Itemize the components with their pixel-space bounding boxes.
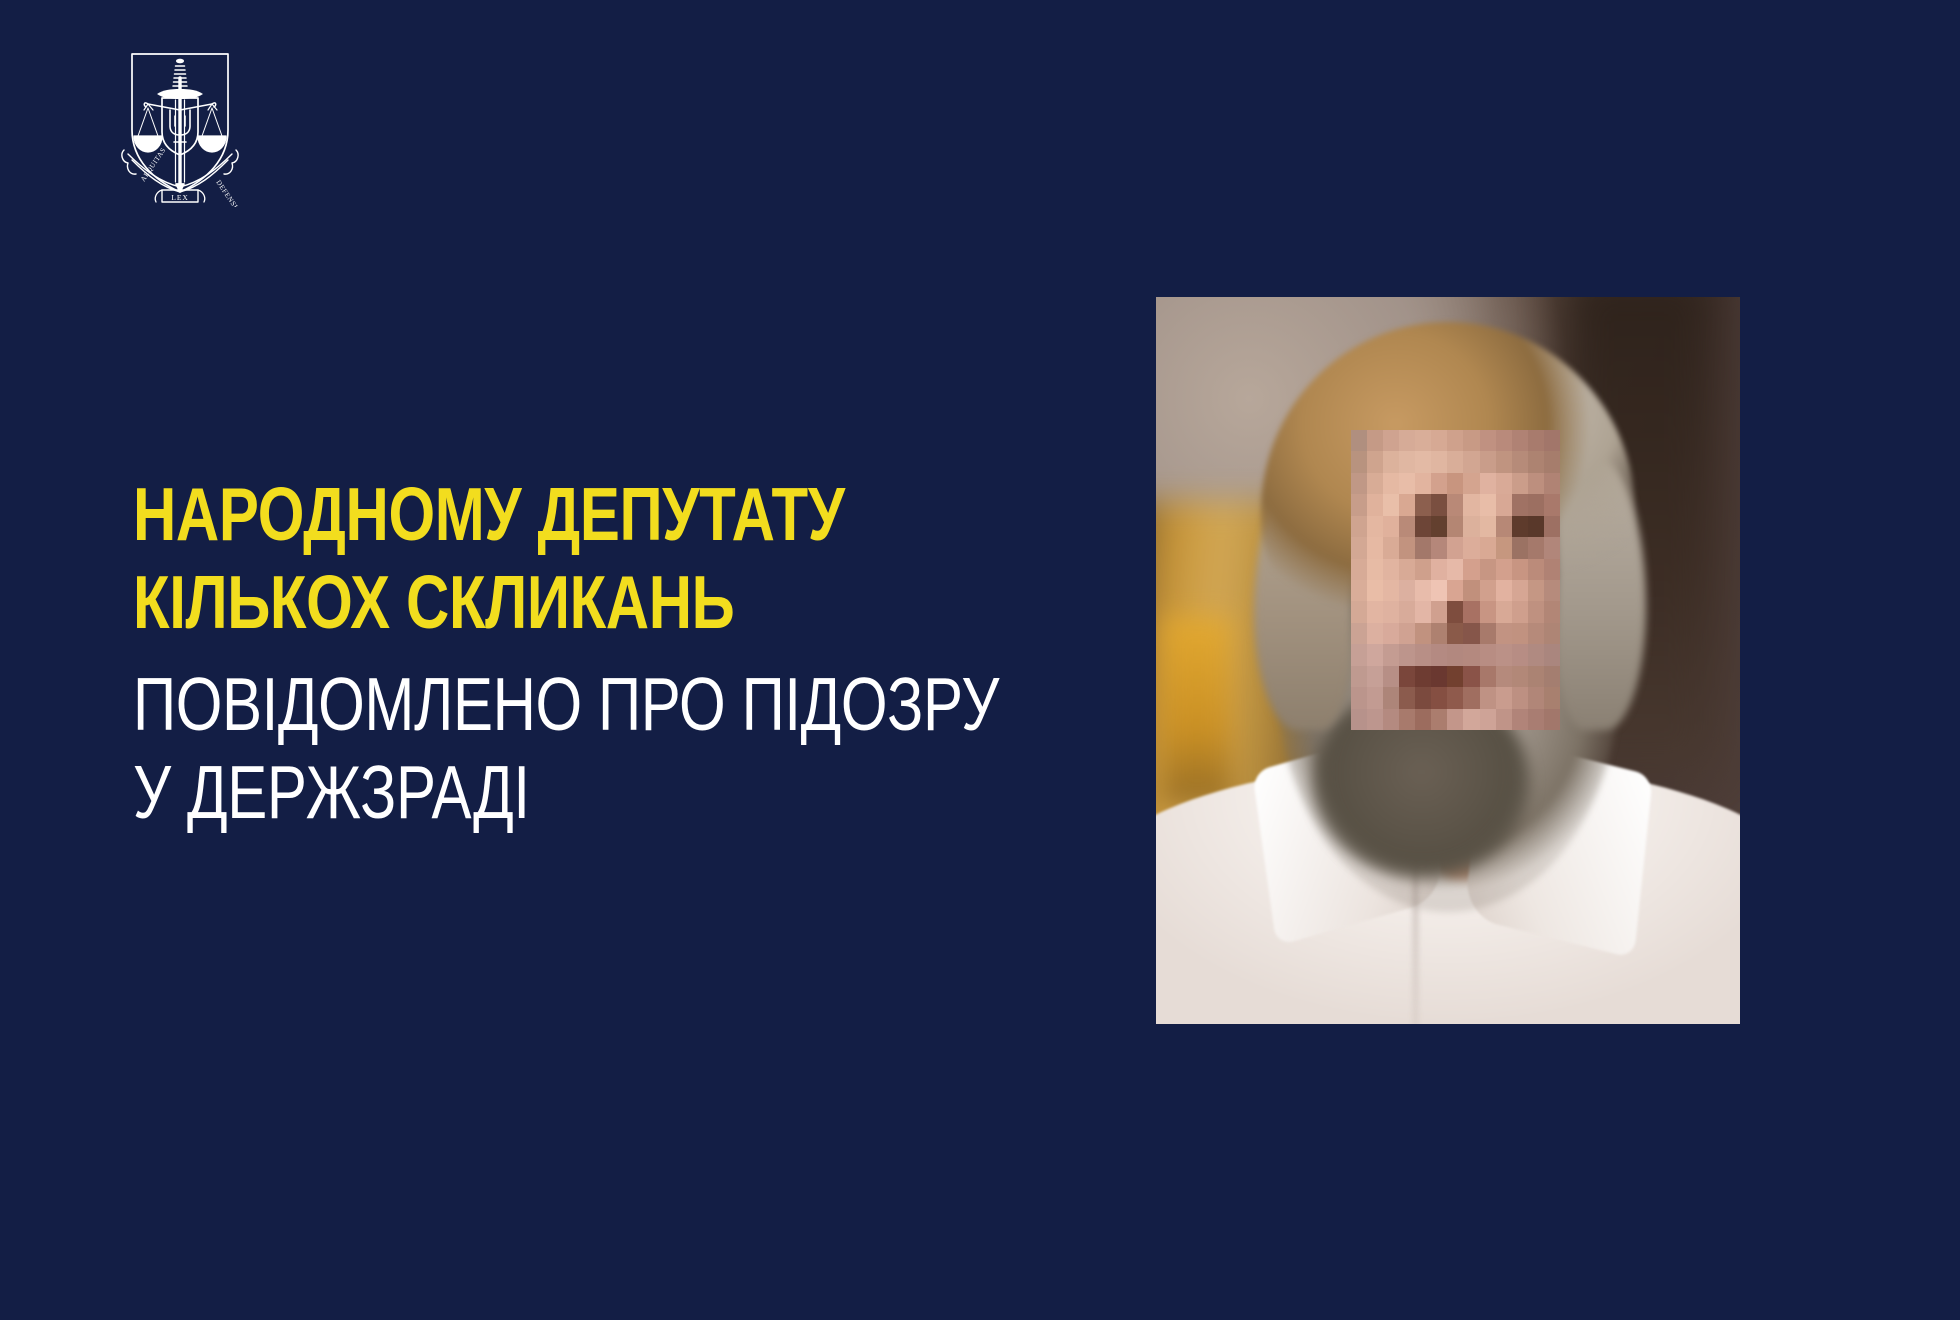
mosaic-cell <box>1431 580 1447 601</box>
mosaic-cell <box>1367 451 1383 472</box>
mosaic-cell <box>1415 644 1431 665</box>
mosaic-cell <box>1399 537 1415 558</box>
mosaic-cell <box>1415 537 1431 558</box>
mosaic-cell <box>1415 430 1431 451</box>
mosaic-cell <box>1480 709 1496 730</box>
mosaic-cell <box>1512 494 1528 515</box>
mosaic-cell <box>1512 430 1528 451</box>
mosaic-cell <box>1544 687 1560 708</box>
mosaic-cell <box>1431 516 1447 537</box>
mosaic-cell <box>1415 451 1431 472</box>
headline-block: НАРОДНОМУ ДЕПУТАТУ КІЛЬКОХ СКЛИКАНЬ ПОВІ… <box>133 470 1073 836</box>
mosaic-cell <box>1383 623 1399 644</box>
mosaic-cell <box>1447 580 1463 601</box>
mosaic-cell <box>1496 537 1512 558</box>
mosaic-cell <box>1351 516 1367 537</box>
mosaic-cell <box>1512 666 1528 687</box>
mosaic-cell <box>1431 623 1447 644</box>
mosaic-cell <box>1383 559 1399 580</box>
mosaic-cell <box>1351 473 1367 494</box>
mosaic-cell <box>1512 687 1528 708</box>
mosaic-cell <box>1544 516 1560 537</box>
mosaic-cell <box>1544 666 1560 687</box>
headline-line-2: КІЛЬКОХ СКЛИКАНЬ <box>133 558 885 646</box>
mosaic-cell <box>1415 666 1431 687</box>
mosaic-cell <box>1480 537 1496 558</box>
mosaic-cell <box>1383 644 1399 665</box>
mosaic-cell <box>1399 559 1415 580</box>
mosaic-cell <box>1415 473 1431 494</box>
mosaic-cell <box>1367 601 1383 622</box>
mosaic-cell <box>1431 666 1447 687</box>
mosaic-cell <box>1399 516 1415 537</box>
mosaic-cell <box>1496 709 1512 730</box>
mosaic-cell <box>1351 644 1367 665</box>
mosaic-cell <box>1496 473 1512 494</box>
subject-head <box>1261 333 1635 900</box>
mosaic-cell <box>1399 687 1415 708</box>
mosaic-cell <box>1480 580 1496 601</box>
mosaic-cell <box>1447 494 1463 515</box>
mosaic-cell <box>1496 494 1512 515</box>
emblem-ribbon-right-text: DEFENSIO <box>214 179 242 207</box>
mosaic-cell <box>1512 580 1528 601</box>
mosaic-cell <box>1447 666 1463 687</box>
mosaic-cell <box>1544 644 1560 665</box>
mosaic-cell <box>1480 666 1496 687</box>
mosaic-cell <box>1367 559 1383 580</box>
press-announcement-card: AEQUITAS LEX DEFENSIO НАРОДНОМУ ДЕПУТАТУ… <box>0 0 1960 1320</box>
mosaic-cell <box>1528 601 1544 622</box>
mosaic-cell <box>1512 473 1528 494</box>
mosaic-cell <box>1431 494 1447 515</box>
headline-line-1: НАРОДНОМУ ДЕПУТАТУ <box>133 470 885 558</box>
subject-photo <box>1156 297 1740 1024</box>
mosaic-cell <box>1544 601 1560 622</box>
mosaic-cell <box>1463 601 1479 622</box>
mosaic-cell <box>1528 644 1544 665</box>
mosaic-cell <box>1431 687 1447 708</box>
mosaic-cell <box>1480 494 1496 515</box>
mosaic-cell <box>1383 580 1399 601</box>
mosaic-cell <box>1447 559 1463 580</box>
mosaic-cell <box>1351 666 1367 687</box>
mosaic-cell <box>1463 580 1479 601</box>
mosaic-cell <box>1447 473 1463 494</box>
mosaic-cell <box>1463 494 1479 515</box>
mosaic-cell <box>1399 451 1415 472</box>
mosaic-cell <box>1463 537 1479 558</box>
mosaic-cell <box>1383 494 1399 515</box>
mosaic-cell <box>1431 644 1447 665</box>
mosaic-cell <box>1351 537 1367 558</box>
mosaic-cell <box>1463 687 1479 708</box>
mosaic-cell <box>1415 687 1431 708</box>
mosaic-cell <box>1463 709 1479 730</box>
mosaic-cell <box>1544 473 1560 494</box>
mosaic-cell <box>1399 580 1415 601</box>
mosaic-cell <box>1383 687 1399 708</box>
mosaic-cell <box>1528 451 1544 472</box>
mosaic-cell <box>1367 494 1383 515</box>
mosaic-cell <box>1544 559 1560 580</box>
mosaic-cell <box>1351 580 1367 601</box>
mosaic-cell <box>1399 623 1415 644</box>
mosaic-cell <box>1415 623 1431 644</box>
mosaic-cell <box>1544 494 1560 515</box>
mosaic-cell <box>1480 601 1496 622</box>
photo-background-gold-accent <box>1162 617 1232 806</box>
mosaic-cell <box>1351 451 1367 472</box>
mosaic-cell <box>1447 537 1463 558</box>
mosaic-cell <box>1496 623 1512 644</box>
mosaic-cell <box>1496 687 1512 708</box>
mosaic-cell <box>1399 644 1415 665</box>
mosaic-cell <box>1351 687 1367 708</box>
mosaic-cell <box>1447 709 1463 730</box>
mosaic-cell <box>1480 559 1496 580</box>
mosaic-cell <box>1399 601 1415 622</box>
headline-line-4: У ДЕРЖЗРАДІ <box>133 748 885 836</box>
mosaic-cell <box>1512 709 1528 730</box>
mosaic-cell <box>1415 601 1431 622</box>
mosaic-cell <box>1431 559 1447 580</box>
photo-stage <box>1156 297 1740 1024</box>
mosaic-cell <box>1383 516 1399 537</box>
mosaic-cell <box>1463 451 1479 472</box>
mosaic-cell <box>1431 537 1447 558</box>
mosaic-cell <box>1480 473 1496 494</box>
mosaic-cell <box>1367 516 1383 537</box>
mosaic-cell <box>1415 580 1431 601</box>
mosaic-cell <box>1496 580 1512 601</box>
mosaic-cell <box>1399 666 1415 687</box>
mosaic-cell <box>1463 623 1479 644</box>
mosaic-cell <box>1463 516 1479 537</box>
mosaic-cell <box>1351 559 1367 580</box>
mosaic-cell <box>1544 451 1560 472</box>
mosaic-cell <box>1496 559 1512 580</box>
mosaic-cell <box>1512 601 1528 622</box>
mosaic-cell <box>1480 516 1496 537</box>
mosaic-cell <box>1496 644 1512 665</box>
mosaic-cell <box>1496 430 1512 451</box>
mosaic-cell <box>1480 623 1496 644</box>
mosaic-cell <box>1528 430 1544 451</box>
mosaic-cell <box>1415 494 1431 515</box>
emblem-ribbon-center-text: LEX <box>171 193 188 202</box>
mosaic-cell <box>1512 559 1528 580</box>
mosaic-cell <box>1463 473 1479 494</box>
mosaic-cell <box>1367 709 1383 730</box>
mosaic-cell <box>1528 666 1544 687</box>
mosaic-cell <box>1367 580 1383 601</box>
mosaic-cell <box>1415 559 1431 580</box>
mosaic-cell <box>1480 451 1496 472</box>
face-pixelation-mosaic <box>1351 430 1560 731</box>
mosaic-cell <box>1367 473 1383 494</box>
mosaic-cell <box>1544 430 1560 451</box>
mosaic-cell <box>1528 516 1544 537</box>
mosaic-cell <box>1367 623 1383 644</box>
mosaic-cell <box>1415 516 1431 537</box>
mosaic-cell <box>1528 473 1544 494</box>
mosaic-cell <box>1447 687 1463 708</box>
mosaic-cell <box>1447 430 1463 451</box>
mosaic-cell <box>1544 580 1560 601</box>
mosaic-cell <box>1480 687 1496 708</box>
mosaic-cell <box>1512 451 1528 472</box>
mosaic-cell <box>1480 644 1496 665</box>
mosaic-cell <box>1496 451 1512 472</box>
mosaic-cell <box>1431 601 1447 622</box>
mosaic-cell <box>1528 623 1544 644</box>
mosaic-cell <box>1480 430 1496 451</box>
mosaic-cell <box>1383 601 1399 622</box>
mosaic-cell <box>1447 516 1463 537</box>
mosaic-cell <box>1399 430 1415 451</box>
mosaic-cell <box>1351 623 1367 644</box>
mosaic-cell <box>1496 666 1512 687</box>
prosecutor-general-emblem-icon: AEQUITAS LEX DEFENSIO <box>110 42 250 207</box>
mosaic-cell <box>1528 709 1544 730</box>
mosaic-cell <box>1367 537 1383 558</box>
mosaic-cell <box>1528 537 1544 558</box>
mosaic-cell <box>1463 559 1479 580</box>
mosaic-cell <box>1447 644 1463 665</box>
mosaic-cell <box>1431 473 1447 494</box>
mosaic-cell <box>1351 601 1367 622</box>
mosaic-cell <box>1528 580 1544 601</box>
mosaic-cell <box>1463 644 1479 665</box>
mosaic-cell <box>1447 601 1463 622</box>
mosaic-cell <box>1463 430 1479 451</box>
mosaic-cell <box>1399 709 1415 730</box>
mosaic-cell <box>1399 494 1415 515</box>
mosaic-cell <box>1447 623 1463 644</box>
mosaic-cell <box>1528 687 1544 708</box>
mosaic-cell <box>1367 430 1383 451</box>
mosaic-cell <box>1528 494 1544 515</box>
mosaic-cell <box>1512 537 1528 558</box>
mosaic-cell <box>1431 451 1447 472</box>
mosaic-cell <box>1367 666 1383 687</box>
mosaic-cell <box>1351 709 1367 730</box>
mosaic-cell <box>1496 516 1512 537</box>
headline-line-3: ПОВІДОМЛЕНО ПРО ПІДОЗРУ <box>133 660 885 748</box>
mosaic-cell <box>1512 516 1528 537</box>
mosaic-cell <box>1512 644 1528 665</box>
mosaic-cell <box>1431 709 1447 730</box>
mosaic-cell <box>1544 537 1560 558</box>
mosaic-cell <box>1512 623 1528 644</box>
mosaic-cell <box>1544 709 1560 730</box>
mosaic-cell <box>1367 644 1383 665</box>
mosaic-cell <box>1447 451 1463 472</box>
mosaic-cell <box>1544 623 1560 644</box>
mosaic-cell <box>1383 473 1399 494</box>
mosaic-cell <box>1528 559 1544 580</box>
mosaic-cell <box>1383 451 1399 472</box>
mosaic-cell <box>1496 601 1512 622</box>
mosaic-cell <box>1415 709 1431 730</box>
mosaic-cell <box>1463 666 1479 687</box>
mosaic-cell <box>1351 494 1367 515</box>
mosaic-cell <box>1383 537 1399 558</box>
mosaic-cell <box>1383 430 1399 451</box>
mosaic-cell <box>1383 709 1399 730</box>
mosaic-cell <box>1351 430 1367 451</box>
mosaic-cell <box>1383 666 1399 687</box>
mosaic-cell <box>1367 687 1383 708</box>
mosaic-cell <box>1431 430 1447 451</box>
mosaic-cell <box>1399 473 1415 494</box>
